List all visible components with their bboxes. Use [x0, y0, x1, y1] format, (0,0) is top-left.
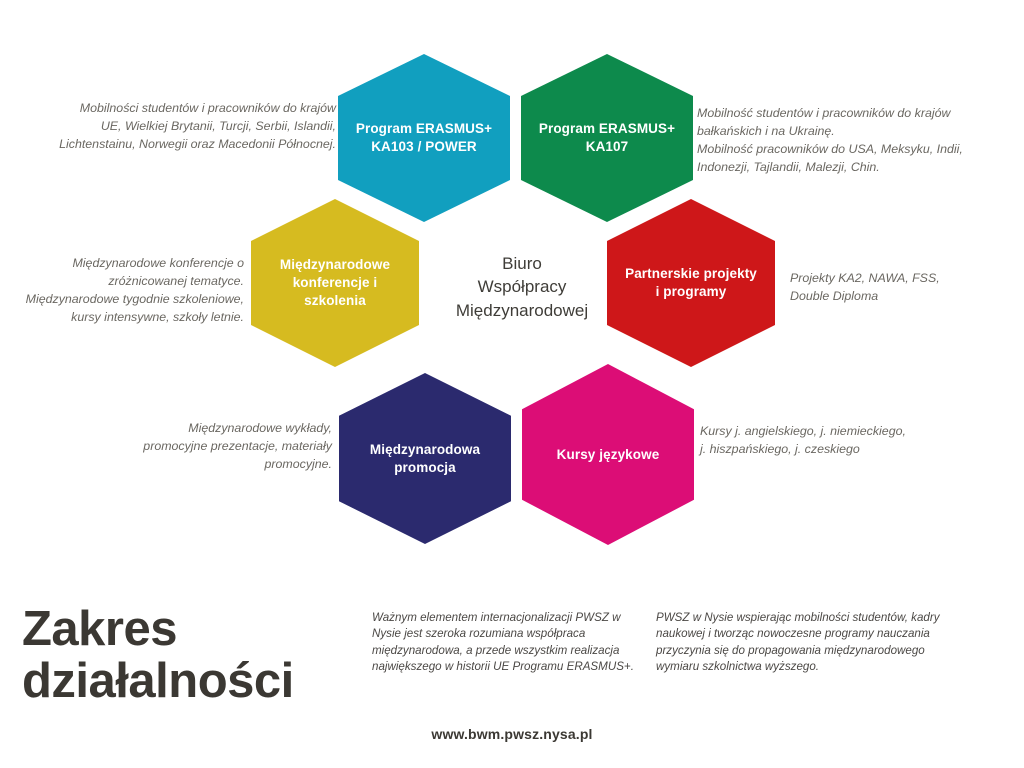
- hexagon-erasmus-ka107[interactable]: Program ERASMUS+KA107: [521, 54, 693, 222]
- footnote-mobilnosci: PWSZ w Nysie wspierając mobilności stude…: [656, 610, 958, 676]
- hexagon-label-erasmus-ka107: Program ERASMUS+KA107: [525, 120, 689, 156]
- website-url[interactable]: www.bwm.pwsz.nysa.pl: [0, 726, 1024, 742]
- note-konferencje-szkolenia: Międzynarodowe konferencje o zróżnicowan…: [22, 255, 244, 327]
- hexagon-label-erasmus-ka103: Program ERASMUS+KA103 / POWER: [342, 120, 506, 156]
- slide-root: { "center": { "label": "Biuro\nWspółprac…: [0, 0, 1024, 768]
- page-title-line2: działalności: [22, 656, 362, 708]
- hexagon-kursy-jezykowe[interactable]: Kursy językowe: [522, 364, 694, 545]
- footnote-internacjonalizacja: Ważnym elementem internacjonalizacji PWS…: [372, 610, 634, 676]
- hexagon-label-kursy-jezykowe: Kursy językowe: [543, 446, 674, 464]
- note-partnerskie-projekty: Projekty KA2, NAWA, FSS,Double Diploma: [790, 270, 990, 306]
- hexagon-partnerskie-projekty[interactable]: Partnerskie projektyi programy: [607, 199, 775, 367]
- note-miedzynarodowa-promocja: Międzynarodowe wykłady, promocyjne preze…: [140, 420, 332, 474]
- note-erasmus-ka107: Mobilność studentów i pracowników do kra…: [697, 105, 982, 177]
- note-erasmus-ka103: Mobilności studentów i pracowników do kr…: [58, 100, 336, 154]
- hexagon-label-konferencje-szkolenia: Międzynarodowekonferencje iszkolenia: [266, 256, 404, 309]
- hexagon-label-miedzynarodowa-promocja: Międzynarodowapromocja: [356, 441, 494, 477]
- hexagon-miedzynarodowa-promocja[interactable]: Międzynarodowapromocja: [339, 373, 511, 544]
- hexagon-erasmus-ka103[interactable]: Program ERASMUS+KA103 / POWER: [338, 54, 510, 222]
- page-title-line1: Zakres: [22, 602, 177, 656]
- note-kursy-jezykowe: Kursy j. angielskiego, j. niemieckiego,j…: [700, 423, 950, 459]
- hexagon-konferencje-szkolenia[interactable]: Międzynarodowekonferencje iszkolenia: [251, 199, 419, 367]
- hexagon-label-partnerskie-projekty: Partnerskie projektyi programy: [611, 265, 771, 301]
- page-title: Zakres działalności: [22, 604, 362, 708]
- center-title: BiuroWspółpracyMiędzynarodowej: [437, 252, 607, 322]
